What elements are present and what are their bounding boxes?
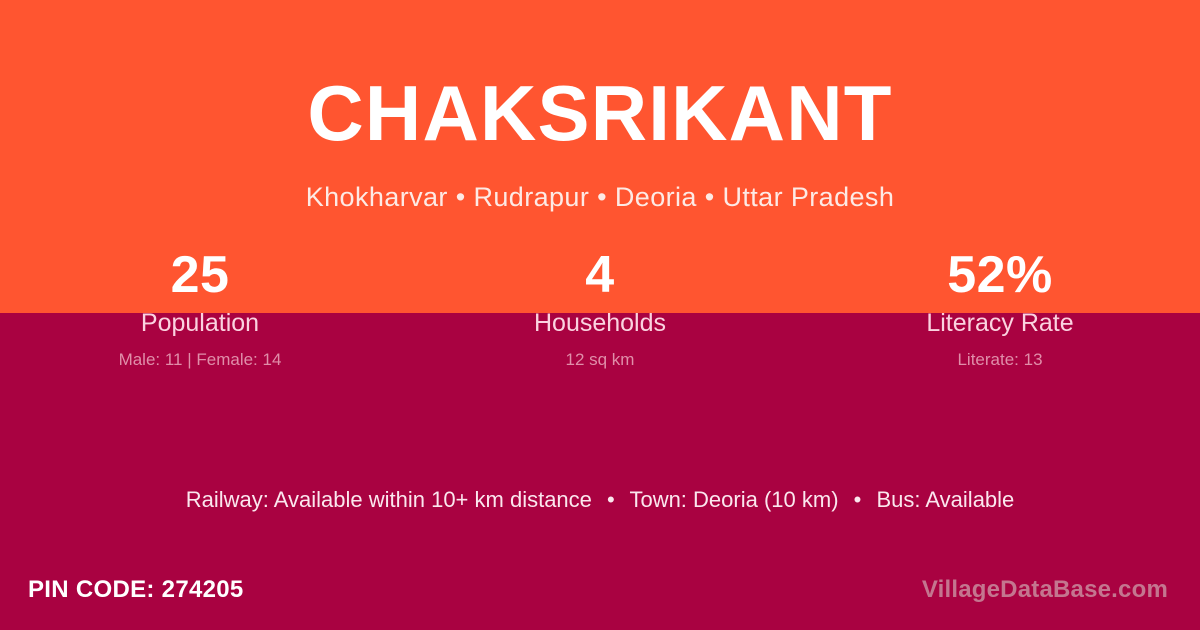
- pin-code-label: PIN CODE: 274205: [28, 574, 244, 606]
- amenity-bus: Bus: Available: [876, 487, 1014, 512]
- stat-label-households: Households: [400, 308, 800, 338]
- amenity-town: Town: Deoria (10 km): [629, 487, 838, 512]
- amenity-separator-dot: •: [845, 487, 871, 512]
- stat-value-literacy-rate: 52%: [800, 246, 1200, 304]
- footer-bar: PIN CODE: 274205 VillageDataBase.com: [0, 560, 1200, 630]
- page-title: CHAKSRIKANT: [0, 74, 1200, 152]
- site-watermark: VillageDataBase.com: [922, 574, 1168, 606]
- stat-sub-households: 12 sq km: [400, 349, 800, 371]
- stat-label-population: Population: [0, 308, 400, 338]
- stat-sub-population: Male: 11 | Female: 14: [0, 349, 400, 371]
- stat-label-literacy-rate: Literacy Rate: [800, 308, 1200, 338]
- amenities-line: Railway: Available within 10+ km distanc…: [0, 485, 1200, 515]
- stat-value-households: 4: [400, 246, 800, 304]
- amenity-separator-dot: •: [598, 487, 624, 512]
- village-info-card: CHAKSRIKANT Khokharvar • Rudrapur • Deor…: [0, 0, 1200, 630]
- stat-population: 25 Population Male: 11 | Female: 14: [0, 246, 400, 371]
- stats-row: 25 Population Male: 11 | Female: 14 4 Ho…: [0, 246, 1200, 371]
- stat-literacy-rate: 52% Literacy Rate Literate: 13: [800, 246, 1200, 371]
- stat-households: 4 Households 12 sq km: [400, 246, 800, 371]
- breadcrumb: Khokharvar • Rudrapur • Deoria • Uttar P…: [0, 183, 1200, 213]
- stat-sub-literacy-rate: Literate: 13: [800, 349, 1200, 371]
- stat-value-population: 25: [0, 246, 400, 304]
- amenity-railway: Railway: Available within 10+ km distanc…: [186, 487, 592, 512]
